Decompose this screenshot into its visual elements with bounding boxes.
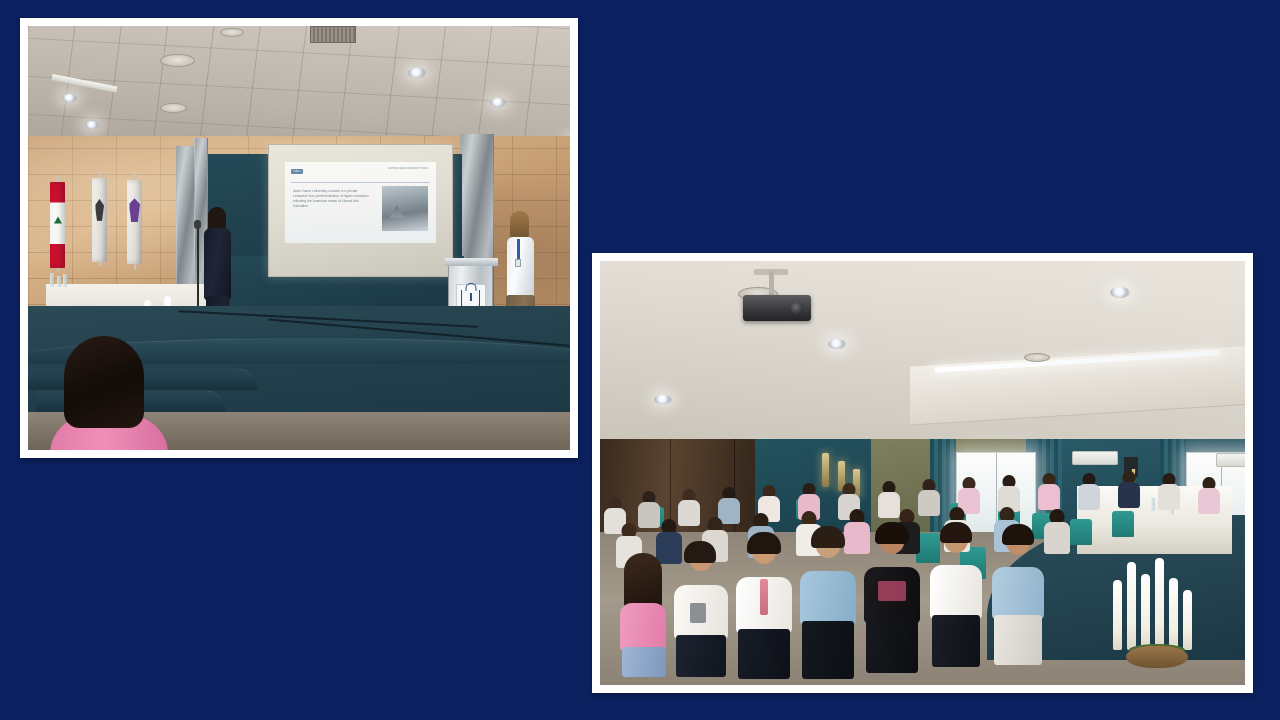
audience-member-front <box>618 557 668 677</box>
audience-member <box>1116 471 1142 511</box>
person-jeans <box>622 647 666 677</box>
audience-member <box>1156 473 1182 513</box>
person-hair <box>875 522 909 544</box>
audience-member-front <box>930 527 982 667</box>
projector-lens-icon <box>791 302 803 314</box>
flower-stalk <box>1183 590 1192 650</box>
lanyard <box>517 239 520 261</box>
auditorium-chair <box>1070 519 1092 545</box>
person-torso <box>1198 488 1220 514</box>
downlight <box>408 68 426 78</box>
flower-stalk <box>1127 562 1136 650</box>
microphone-stand <box>197 226 199 316</box>
flower-wood-base <box>1126 646 1188 668</box>
badge <box>515 259 521 267</box>
audience-photo-image <box>600 261 1245 685</box>
collage-canvas: NDU NOTRE DAME UNIVERSITY NDU Notre Dame… <box>0 0 1280 720</box>
audience-member-front <box>674 545 728 677</box>
ceiling-disc-light <box>220 28 244 37</box>
flower-arrangement <box>1101 558 1213 668</box>
water-bottle <box>1151 498 1155 511</box>
speaker-shirt <box>507 237 534 297</box>
microphone-icon <box>194 220 201 229</box>
presentation-photo[interactable]: NDU NOTRE DAME UNIVERSITY NDU Notre Dame… <box>20 18 578 458</box>
downlight <box>1110 287 1130 298</box>
sweatshirt-graphic <box>878 581 906 601</box>
foreground-hair <box>64 336 144 428</box>
person-torso <box>1038 484 1060 510</box>
water-bottle <box>50 273 54 287</box>
person-shirt <box>992 567 1044 619</box>
foreground-audience-member <box>50 336 168 450</box>
speaker-jacket <box>204 228 231 300</box>
institution-flag-purple <box>125 174 145 270</box>
downlight <box>490 98 506 107</box>
slide-image <box>382 186 429 231</box>
ceiling-vent <box>310 26 356 43</box>
person-trousers <box>994 615 1042 665</box>
water-bottles <box>50 269 68 287</box>
slide-logo-tag: NDU <box>291 169 302 174</box>
person-torso <box>1158 484 1180 510</box>
water-bottle <box>63 274 67 287</box>
downlight <box>62 94 77 102</box>
flag-emblem <box>129 198 140 222</box>
wall-sconce <box>822 453 829 487</box>
presentation-slide: NDU NOTRE DAME UNIVERSITY NDU Notre Dame… <box>285 162 435 243</box>
ndu-logo-icon <box>461 290 480 307</box>
person-hair <box>747 532 781 554</box>
person-hair <box>684 541 716 563</box>
ceiling-disc-light <box>1024 353 1050 362</box>
lebanon-flag-cloth <box>50 182 65 268</box>
person-hair <box>940 522 972 543</box>
projector-mount <box>769 271 774 297</box>
audience-photo[interactable] <box>592 253 1253 693</box>
auditorium-chair <box>1112 511 1134 537</box>
audience-member <box>1042 509 1072 557</box>
downlight <box>828 339 846 349</box>
cedar-emblem <box>54 216 62 223</box>
ceiling-projector <box>743 295 811 321</box>
projection-screen: NDU NOTRE DAME UNIVERSITY NDU Notre Dame… <box>268 144 453 277</box>
downlight <box>654 395 672 404</box>
institution-flag-dark <box>90 172 110 266</box>
flower-stalk <box>1169 578 1178 650</box>
person-hair <box>811 526 845 548</box>
person-shorts <box>866 619 918 673</box>
person-trousers <box>738 629 790 679</box>
person-hair <box>1002 524 1034 545</box>
audience-member-front <box>992 529 1044 665</box>
ceiling-disc-light <box>160 54 195 67</box>
flower-stalk <box>1155 558 1164 650</box>
slide-corner-text: NOTRE DAME UNIVERSITY NDU <box>388 167 428 170</box>
downlight <box>85 121 99 129</box>
water-bottle <box>57 276 61 287</box>
air-conditioner <box>1072 451 1118 465</box>
person-trousers <box>932 615 980 667</box>
audience-member-front <box>864 527 920 673</box>
audience-member <box>1076 473 1102 513</box>
person-shirt <box>620 603 666 651</box>
audience-member <box>1036 473 1062 513</box>
flag-cloth <box>127 180 142 264</box>
person-torso <box>1044 522 1070 554</box>
person-trackpants <box>676 635 726 677</box>
audience-member <box>1196 477 1222 517</box>
person-shorts <box>802 621 854 679</box>
presentation-photo-image: NDU NOTRE DAME UNIVERSITY NDU Notre Dame… <box>28 26 570 450</box>
audience-member-front <box>800 531 856 679</box>
person-torso <box>1078 484 1100 510</box>
person-necktie <box>760 579 768 615</box>
slide-divider <box>291 182 429 183</box>
flower-stalk <box>1141 574 1150 650</box>
lebanon-flag <box>48 176 68 271</box>
person-uniform-shirt <box>930 565 982 619</box>
audience-member-front <box>736 537 792 679</box>
air-conditioner <box>1216 453 1245 467</box>
flower-stalk <box>1113 580 1122 650</box>
person-polo <box>800 571 856 625</box>
flag-cloth <box>92 178 107 262</box>
slide-body-text: Notre Dame University-Louaize is a priva… <box>293 189 371 209</box>
ceiling-disc-light <box>160 103 187 113</box>
flag-emblem <box>95 199 104 221</box>
tshirt-graphic <box>690 603 706 623</box>
podium-top <box>445 258 498 266</box>
person-torso <box>1118 482 1140 508</box>
